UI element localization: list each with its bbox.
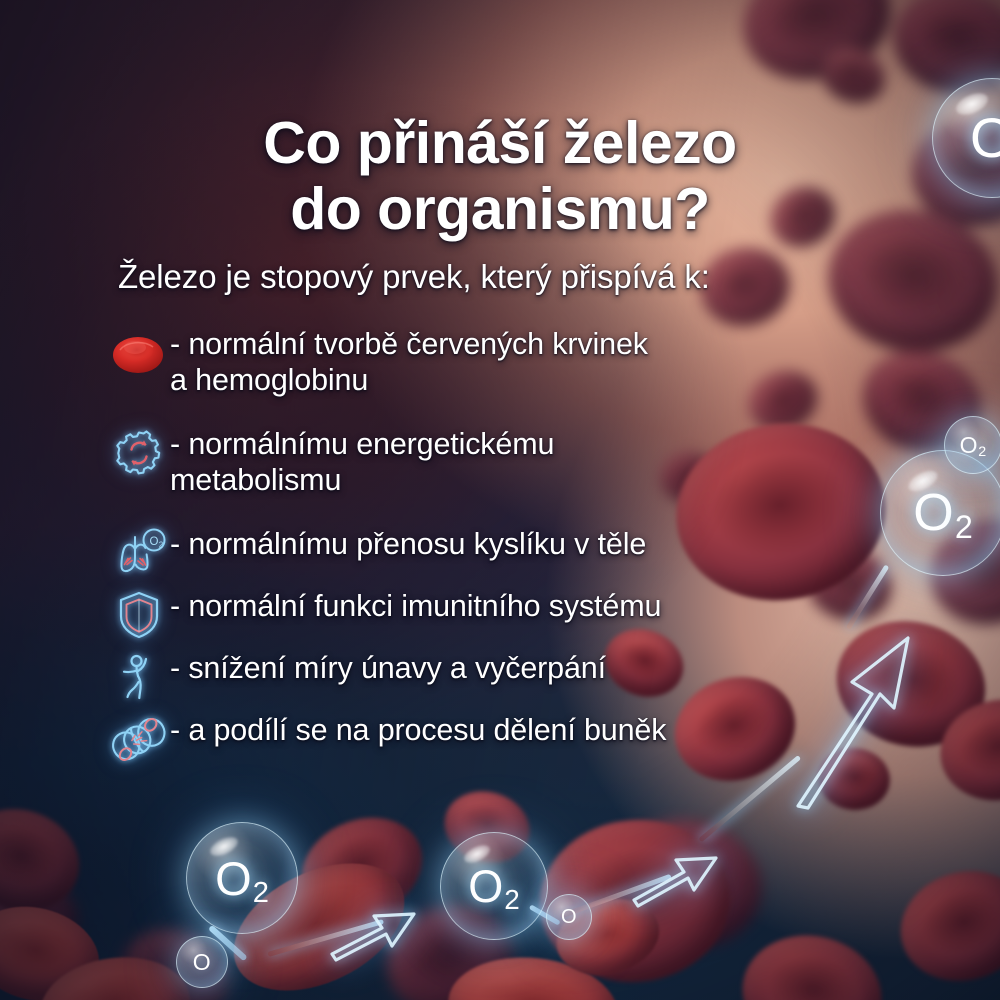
benefits-list: - normální tvorbě červených krvineka hem… xyxy=(108,325,908,773)
stretching-person-icon xyxy=(108,651,170,703)
infographic-poster: O O2 O2 O2 O O2 O Co přináší železo do o… xyxy=(0,0,1000,1000)
page-title: Co přináší železo do organismu? xyxy=(0,110,1000,243)
svg-text:O: O xyxy=(150,536,159,548)
list-item-label: - a podílí se na procesu dělení buněk xyxy=(170,711,666,749)
list-item: - normálnímu energetickémumetabolismu xyxy=(108,425,908,517)
red-blood-cell-icon xyxy=(108,327,170,379)
list-item: - snížení míry únavy a vyčerpání xyxy=(108,649,908,703)
list-item-label: - normálnímu energetickémumetabolismu xyxy=(170,425,554,498)
list-item: - normální funkci imunitního systému xyxy=(108,587,908,641)
list-item-label: - normální funkci imunitního systému xyxy=(170,587,661,625)
cell-division-icon xyxy=(108,713,170,765)
list-item-label: - snížení míry únavy a vyčerpání xyxy=(170,649,606,687)
immune-shield-icon xyxy=(108,589,170,641)
page-title-line-2: do organismu? xyxy=(0,176,1000,243)
metabolism-gear-icon xyxy=(108,427,170,479)
list-item-label: - normálnímu přenosu kyslíku v těle xyxy=(170,525,646,563)
svg-text:2: 2 xyxy=(159,541,164,550)
list-item: - a podílí se na procesu dělení buněk xyxy=(108,711,908,765)
list-item-label: - normální tvorbě červených krvineka hem… xyxy=(170,325,648,398)
list-item: - normální tvorbě červených krvineka hem… xyxy=(108,325,908,417)
page-title-line-1: Co přináší železo xyxy=(263,110,736,176)
content-layer: Co přináší železo do organismu? Železo j… xyxy=(0,0,1000,1000)
lungs-oxygen-icon: O 2 xyxy=(108,527,170,579)
subtitle: Železo je stopový prvek, který přispívá … xyxy=(118,258,710,296)
list-item: O 2 - normálnímu přenosu kyslíku v těle xyxy=(108,525,908,579)
